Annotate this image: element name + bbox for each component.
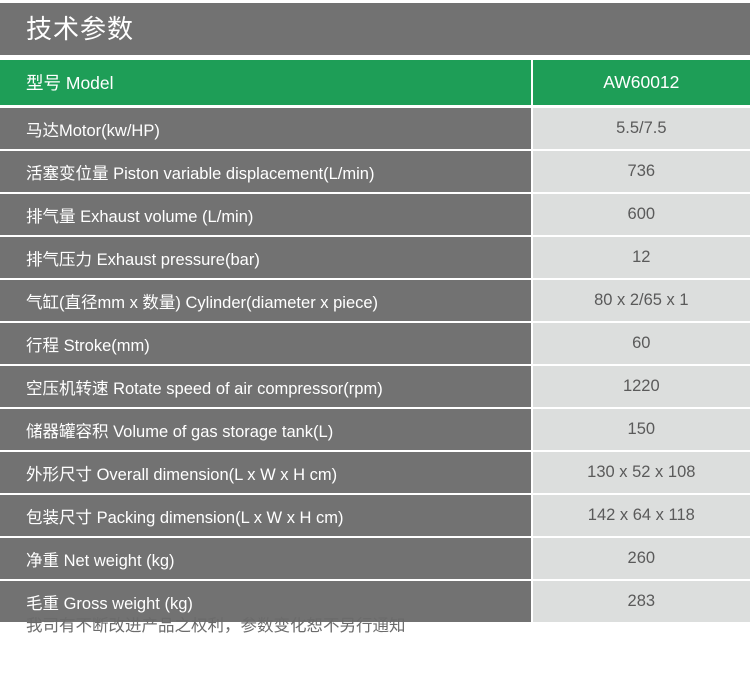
- row-value: 80 x 2/65 x 1: [533, 280, 750, 321]
- row-label: 储器罐容积 Volume of gas storage tank(L): [0, 409, 531, 450]
- row-label: 马达Motor(kw/HP): [0, 108, 531, 149]
- row-label: 空压机转速 Rotate speed of air compressor(rpm…: [0, 366, 531, 407]
- row-value: 12: [533, 237, 750, 278]
- table-row: 行程 Stroke(mm)60: [0, 323, 750, 364]
- row-label: 活塞变位量 Piston variable displacement(L/min…: [0, 151, 531, 192]
- row-value: 260: [533, 538, 750, 579]
- table-row: 外形尺寸 Overall dimension(L x W x H cm)130 …: [0, 452, 750, 493]
- header-cell-model-label: 型号 Model: [0, 60, 531, 105]
- table-row: 包装尺寸 Packing dimension(L x W x H cm)142 …: [0, 495, 750, 536]
- specification-table: 型号 Model AW60012 马达Motor(kw/HP)5.5/7.5活塞…: [0, 60, 750, 624]
- table-row: 储器罐容积 Volume of gas storage tank(L)150: [0, 409, 750, 450]
- row-label: 外形尺寸 Overall dimension(L x W x H cm): [0, 452, 531, 493]
- header-cell-model-value: AW60012: [533, 60, 750, 105]
- row-label: 气缸(直径mm x 数量) Cylinder(diameter x piece): [0, 280, 531, 321]
- row-label: 净重 Net weight (kg): [0, 538, 531, 579]
- row-value: 130 x 52 x 108: [533, 452, 750, 493]
- table-row: 马达Motor(kw/HP)5.5/7.5: [0, 108, 750, 149]
- row-value: 60: [533, 323, 750, 364]
- row-value: 5.5/7.5: [533, 108, 750, 149]
- row-value: 142 x 64 x 118: [533, 495, 750, 536]
- row-label: 包装尺寸 Packing dimension(L x W x H cm): [0, 495, 531, 536]
- table-row: 气缸(直径mm x 数量) Cylinder(diameter x piece)…: [0, 280, 750, 321]
- row-value: 1220: [533, 366, 750, 407]
- row-value: 736: [533, 151, 750, 192]
- table-header-row: 型号 Model AW60012: [0, 60, 750, 105]
- table-row: 净重 Net weight (kg)260: [0, 538, 750, 579]
- row-label: 排气量 Exhaust volume (L/min): [0, 194, 531, 235]
- table-body: 马达Motor(kw/HP)5.5/7.5活塞变位量 Piston variab…: [0, 108, 750, 622]
- spec-sheet: 技术参数 型号 Model AW60012 马达Motor(kw/HP)5.5/…: [0, 0, 750, 674]
- table-row: 活塞变位量 Piston variable displacement(L/min…: [0, 151, 750, 192]
- table-row: 排气压力 Exhaust pressure(bar)12: [0, 237, 750, 278]
- row-value: 150: [533, 409, 750, 450]
- page-title: 技术参数: [0, 16, 134, 42]
- row-label: 排气压力 Exhaust pressure(bar): [0, 237, 531, 278]
- row-label: 行程 Stroke(mm): [0, 323, 531, 364]
- table-row: 排气量 Exhaust volume (L/min)600: [0, 194, 750, 235]
- row-value: 600: [533, 194, 750, 235]
- page-title-band: 技术参数: [0, 3, 750, 55]
- table-row: 空压机转速 Rotate speed of air compressor(rpm…: [0, 366, 750, 407]
- footer-note: 我司有不断改进产品之权利，参数变化恕不另行通知: [0, 612, 750, 636]
